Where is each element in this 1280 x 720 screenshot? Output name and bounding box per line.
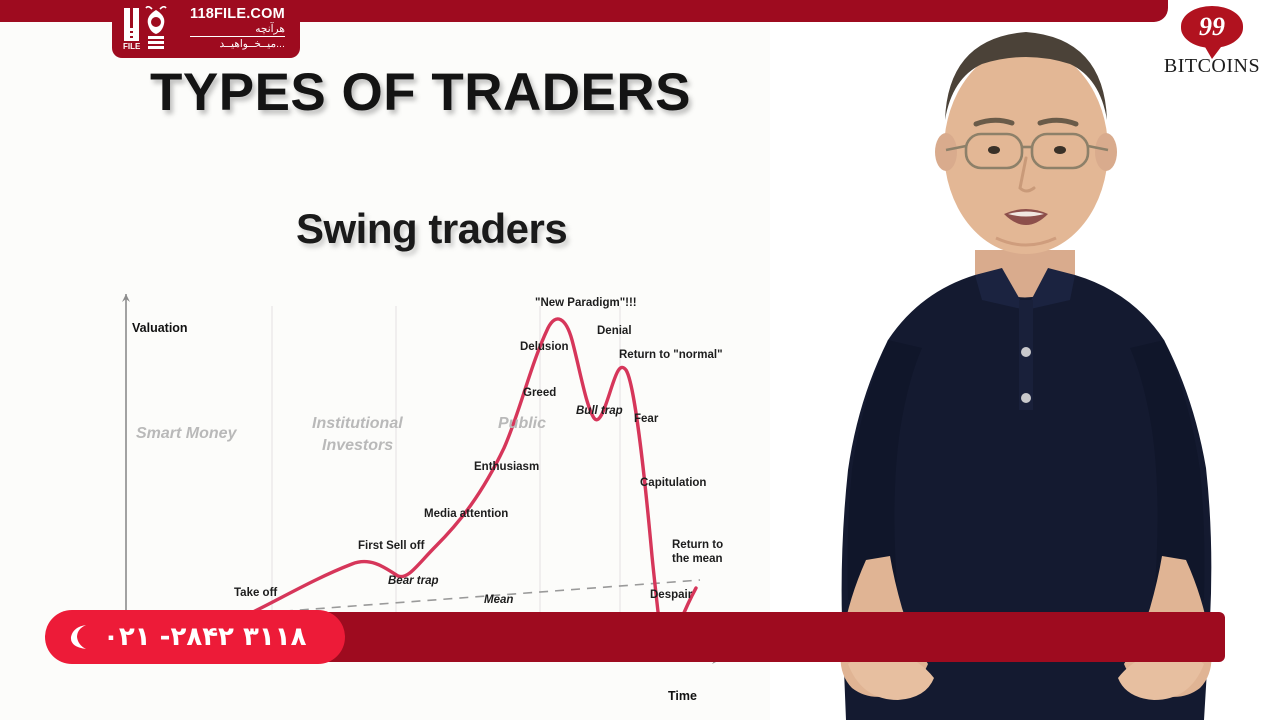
annotation-new-paradigm: "New Paradigm"!!! xyxy=(535,297,637,309)
svg-text:FILE: FILE xyxy=(123,42,141,50)
logo-domain-text: 118FILE.COM xyxy=(190,7,285,22)
valuation-curve xyxy=(218,319,666,660)
annotation-delusion: Delusion xyxy=(520,341,569,353)
page-title: TYPES OF TRADERS xyxy=(150,62,691,123)
y-axis-label: Valuation xyxy=(132,321,188,335)
annotation-first-sell-off: First Sell off xyxy=(358,540,425,552)
footer-phone-number: ۰۲۱ -۲۸۴۲ ۳۱۱۸ xyxy=(103,622,306,652)
logo-tagline-line2: میــخــواهیــد... xyxy=(190,39,285,50)
118file-logo-icon: FILE xyxy=(122,6,184,50)
annotation-the-mean: the mean xyxy=(672,553,723,565)
phase-actor-investors: Investors xyxy=(322,437,393,454)
annotation-return-to-normal: Return to "normal" xyxy=(619,349,723,361)
phase-actor-public: Public xyxy=(498,415,546,432)
annotation-capitulation: Capitulation xyxy=(640,477,706,489)
x-axis-label: Time xyxy=(668,689,697,703)
annotation-despair: Despair xyxy=(650,589,693,601)
annotation-denial: Denial xyxy=(597,325,632,337)
phone-icon xyxy=(67,623,93,651)
annotation-greed: Greed xyxy=(523,387,556,399)
annotation-bull-trap: Bull trap xyxy=(576,405,623,417)
annotation-bear-trap: Bear trap xyxy=(388,575,439,587)
annotation-take-off: Take off xyxy=(234,587,277,599)
annotation-enthusiasm: Enthusiasm xyxy=(474,461,539,473)
logo-99-number: 99 xyxy=(1199,14,1225,40)
annotation-fear: Fear xyxy=(634,413,659,425)
logo-tagline-line1: هرآنچه xyxy=(190,24,285,37)
brand-logo-118file[interactable]: FILE 118FILE.COM هرآنچه میــخــواهیــد..… xyxy=(112,0,300,58)
phase-actor-institutional: Institutional xyxy=(312,415,403,432)
annotation-return-to: Return to xyxy=(672,539,723,551)
slide-subtitle: Swing traders xyxy=(296,205,567,253)
footer-banner-bar xyxy=(270,612,1225,662)
speech-bubble-icon: 99 xyxy=(1181,6,1243,52)
footer-phone-pill[interactable]: ۰۲۱ -۲۸۴۲ ۳۱۱۸ xyxy=(45,610,345,664)
annotation-media-attention: Media attention xyxy=(424,508,508,520)
slide-stage: FILE 118FILE.COM هرآنچه میــخــواهیــد..… xyxy=(0,0,1280,720)
annotation-mean: Mean xyxy=(484,594,513,606)
brand-logo-99bitcoins[interactable]: 99 BITCOINS xyxy=(1156,6,1268,82)
phase-actor-smart-money: Smart Money xyxy=(136,425,238,442)
